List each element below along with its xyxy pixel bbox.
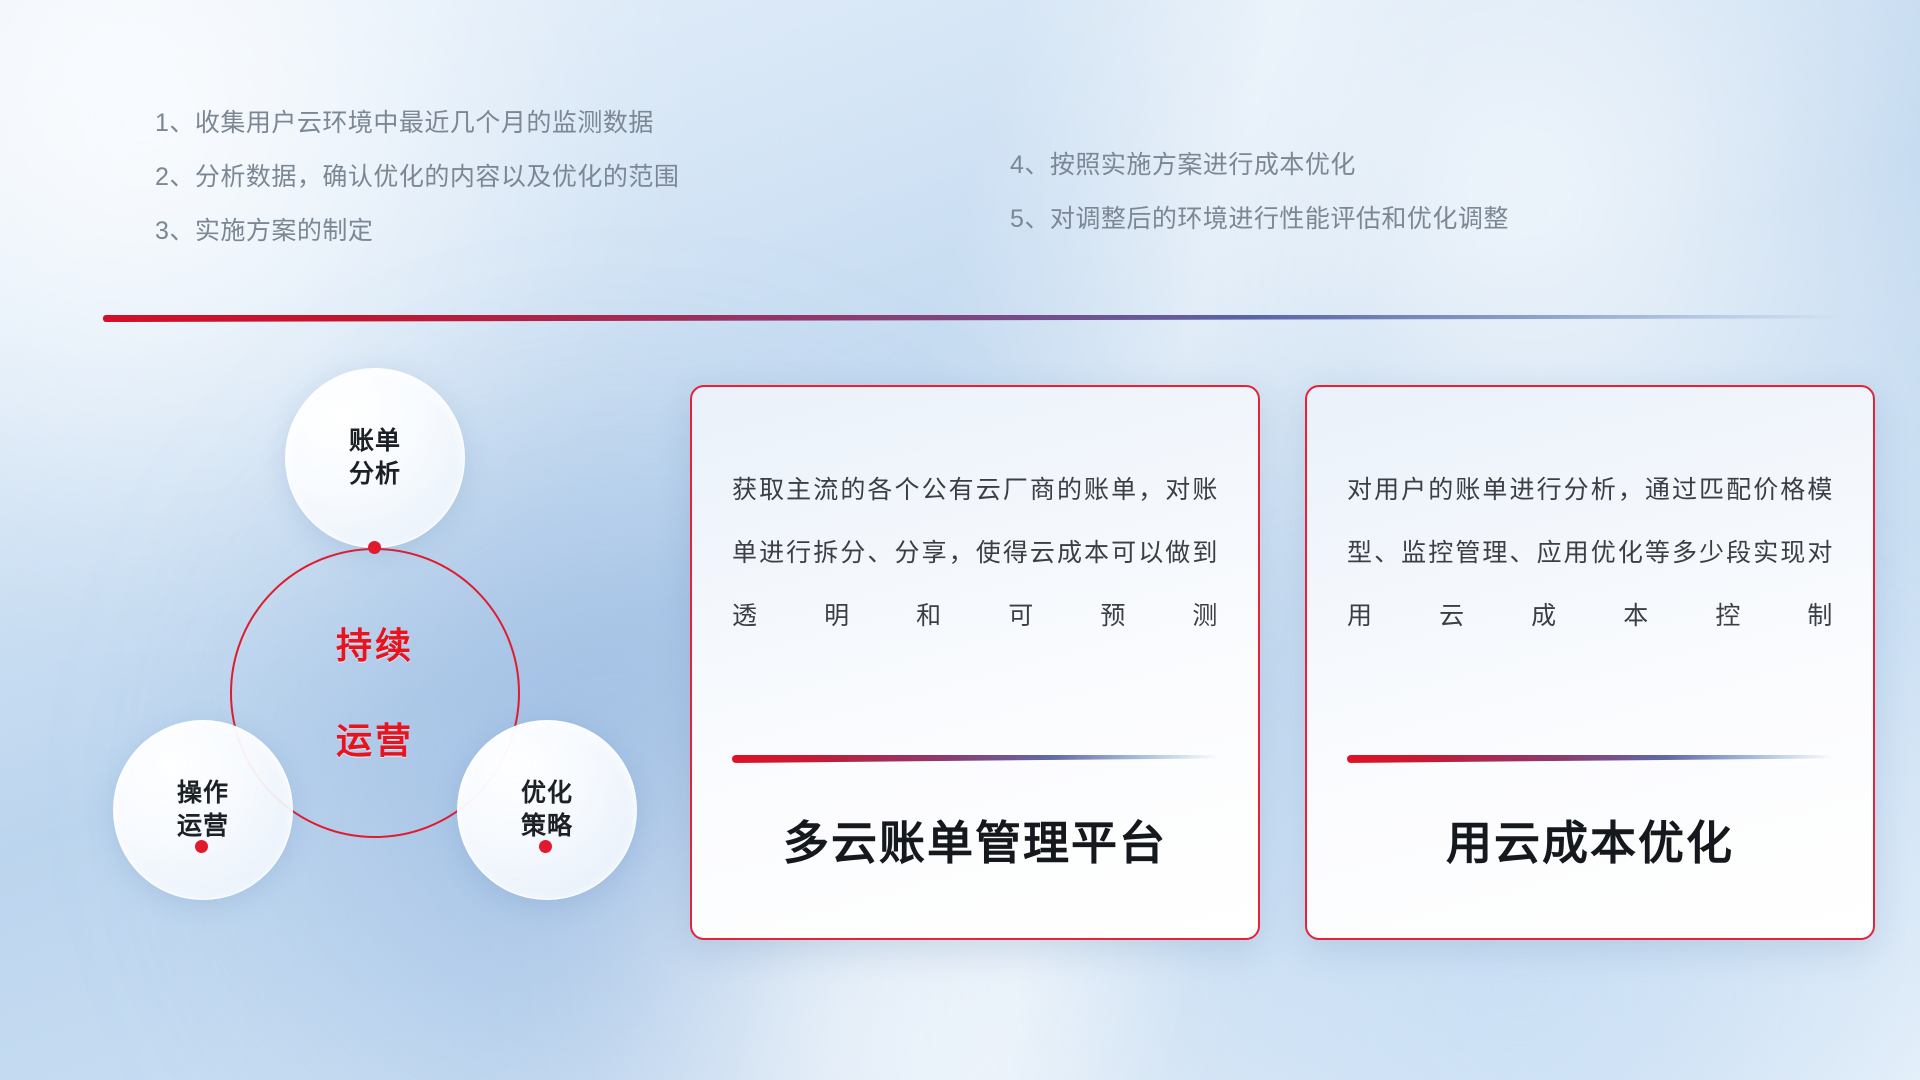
process-step-list-left: 1、收集用户云环境中最近几个月的监测数据 2、分析数据，确认优化的内容以及优化的…	[155, 96, 679, 258]
venn-bubble-label-line1: 操作	[177, 779, 229, 807]
venn-center-text: 持续运营	[336, 622, 414, 765]
process-step-item: 3、实施方案的制定	[155, 204, 679, 258]
venn-center-line2: 运营	[336, 717, 414, 765]
feature-card-body: 对用户的账单进行分析，通过匹配价格模型、监控管理、应用优化等多少段实现对用云成本…	[1307, 387, 1873, 648]
venn-bubble-label: 账单 分析	[349, 425, 401, 492]
process-step-lists: 1、收集用户云环境中最近几个月的监测数据 2、分析数据，确认优化的内容以及优化的…	[0, 96, 1920, 286]
venn-connector-dot-right	[539, 840, 552, 853]
venn-bubble-label-line2: 运营	[177, 812, 229, 840]
feature-card-multicloud-billing[interactable]: 获取主流的各个公有云厂商的账单，对账单进行拆分、分享，使得云成本可以做到透明和可…	[690, 385, 1260, 940]
venn-bubble-label-line1: 优化	[521, 779, 573, 807]
feature-card-rule	[1347, 755, 1833, 763]
process-step-item: 2、分析数据，确认优化的内容以及优化的范围	[155, 150, 679, 204]
continuous-operation-venn-diagram: 账单 分析 操作 运营 优化 策略 持续运营	[95, 350, 655, 970]
process-step-list-right: 4、按照实施方案进行成本优化 5、对调整后的环境进行性能评估和优化调整	[1010, 138, 1509, 246]
feature-card-title: 多云账单管理平台	[692, 807, 1258, 873]
venn-connector-dot-left	[195, 840, 208, 853]
venn-center-label: 持续运营	[230, 548, 520, 838]
process-step-item: 4、按照实施方案进行成本优化	[1010, 138, 1509, 192]
process-step-item: 1、收集用户云环境中最近几个月的监测数据	[155, 96, 679, 150]
feature-card-body: 获取主流的各个公有云厂商的账单，对账单进行拆分、分享，使得云成本可以做到透明和可…	[692, 387, 1258, 648]
venn-bubble-label-line2: 策略	[521, 812, 573, 840]
process-step-item: 5、对调整后的环境进行性能评估和优化调整	[1010, 192, 1509, 246]
venn-bubble-label-line1: 账单	[349, 427, 401, 455]
venn-bubble-label: 操作 运营	[177, 777, 229, 844]
feature-card-cloud-cost-optimization[interactable]: 对用户的账单进行分析，通过匹配价格模型、监控管理、应用优化等多少段实现对用云成本…	[1305, 385, 1875, 940]
venn-bubble-bill-analysis[interactable]: 账单 分析	[285, 368, 465, 548]
feature-card-title: 用云成本优化	[1307, 807, 1873, 873]
venn-center-line1: 持续	[336, 622, 414, 670]
venn-bubble-label: 优化 策略	[521, 777, 573, 844]
venn-bubble-label-line2: 分析	[349, 460, 401, 488]
feature-card-rule	[732, 755, 1218, 763]
